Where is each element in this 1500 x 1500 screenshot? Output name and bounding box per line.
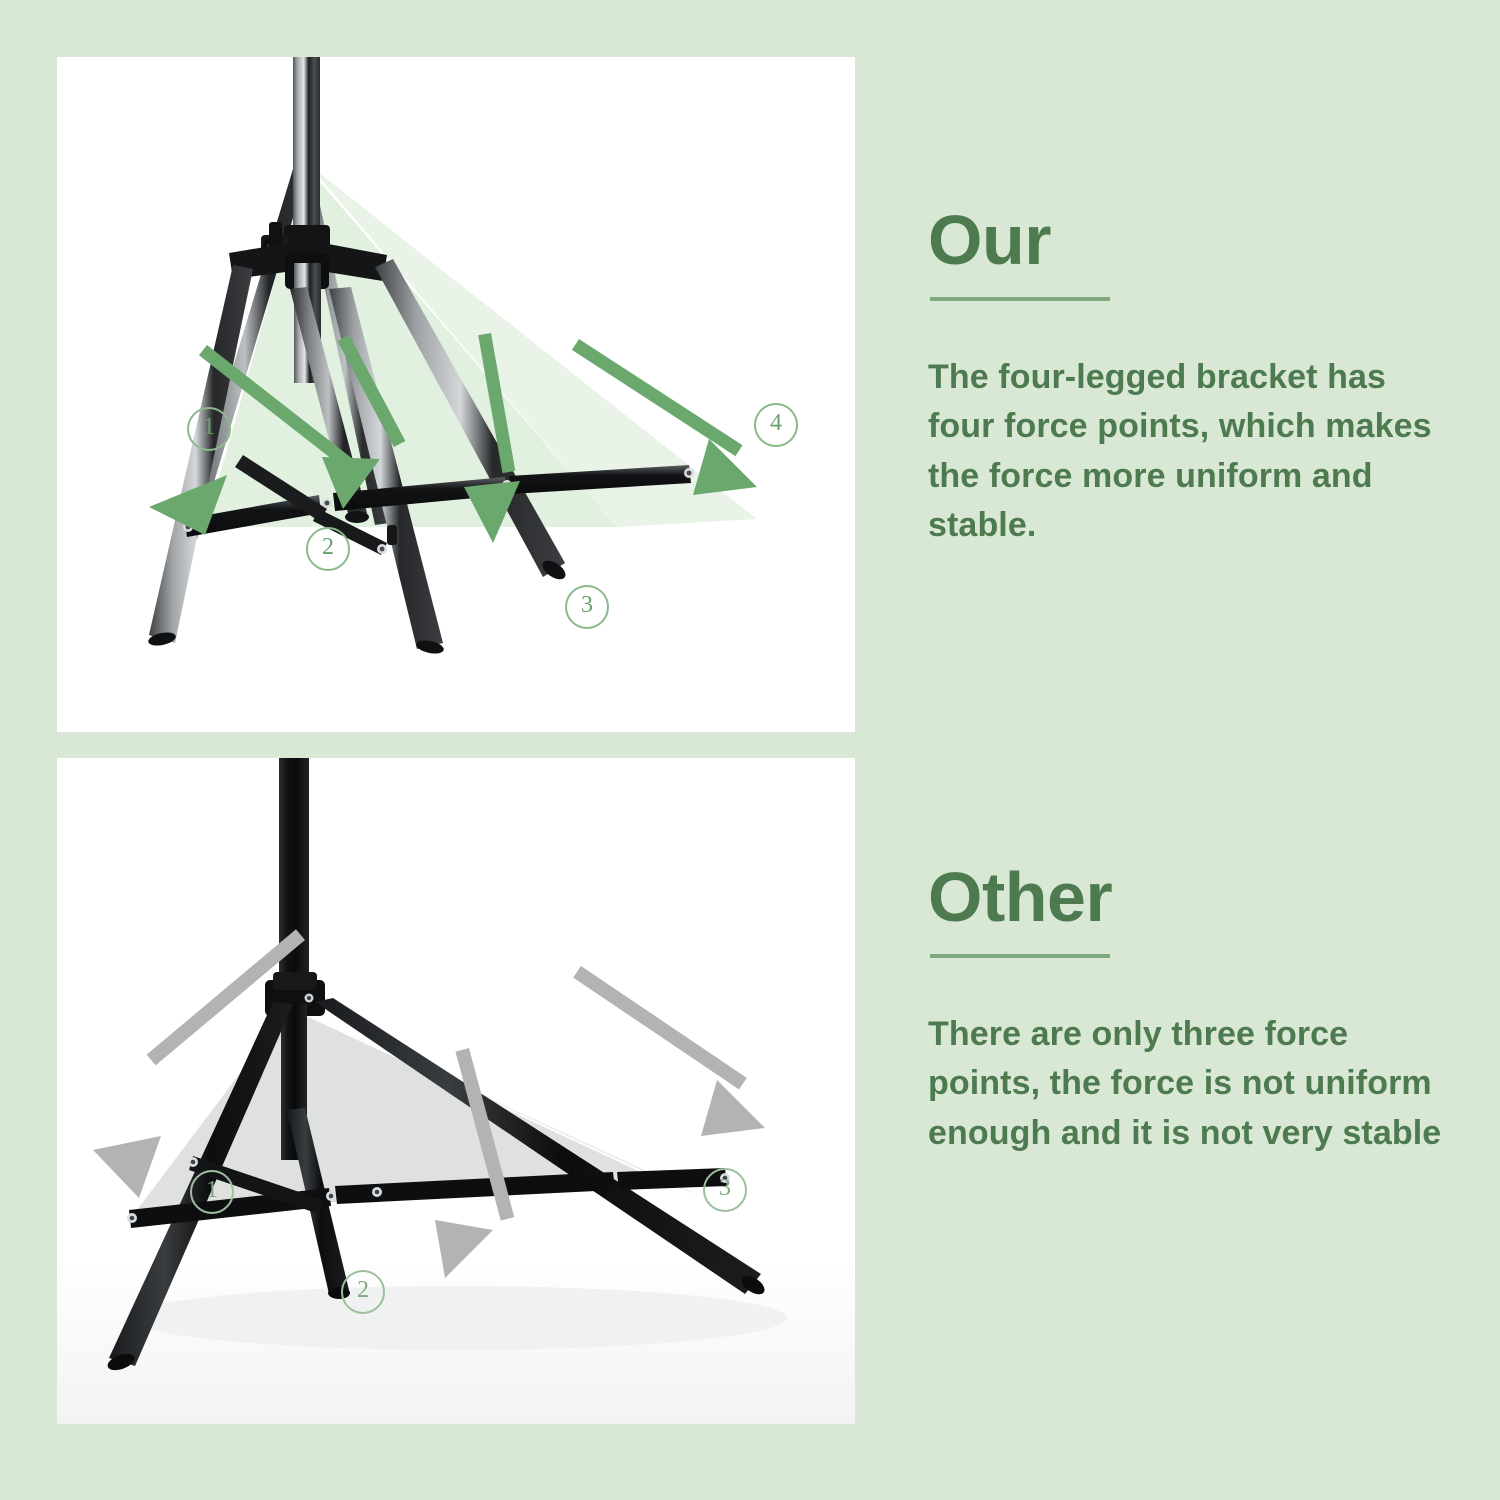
heading-rule-other (930, 954, 1110, 958)
heading-other: Other (928, 862, 1458, 932)
section-our: Our The four-legged bracket has four for… (928, 205, 1458, 550)
body-our: The four-legged bracket has four force p… (928, 353, 1458, 550)
marker-our-1: 1 (187, 407, 231, 451)
product-photo-other: 1 2 3 (57, 758, 855, 1424)
tripod-three-leg-illustration (57, 758, 855, 1424)
infographic-page: 1 2 3 4 (0, 0, 1500, 1500)
marker-other-3: 3 (703, 1168, 747, 1212)
marker-our-2: 2 (306, 527, 350, 571)
marker-other-1: 1 (190, 1170, 234, 1214)
marker-our-3: 3 (565, 585, 609, 629)
force-arrow-3 (573, 966, 765, 1136)
heading-rule-our (930, 297, 1110, 301)
center-pole (279, 758, 309, 996)
product-photo-our: 1 2 3 4 (57, 57, 855, 732)
section-other: Other There are only three force points,… (928, 862, 1458, 1158)
marker-our-4: 4 (754, 403, 798, 447)
marker-other-2: 2 (341, 1270, 385, 1314)
tripod-four-leg-illustration (57, 57, 855, 732)
heading-our: Our (928, 205, 1458, 275)
center-pole (293, 57, 320, 237)
body-other: There are only three force points, the f… (928, 1010, 1458, 1158)
